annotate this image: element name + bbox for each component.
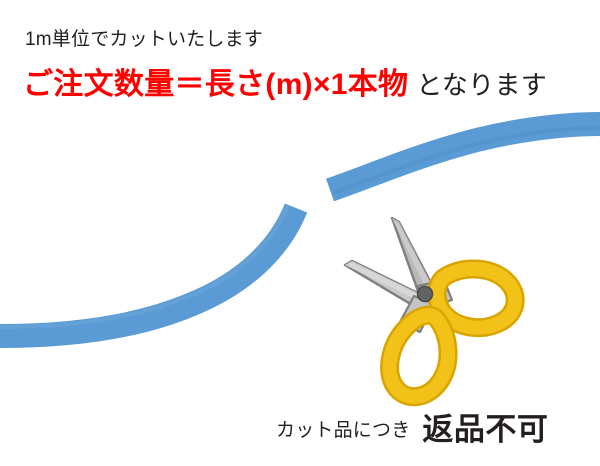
return-policy-prefix-text: カット品につき	[276, 420, 410, 441]
unit-note-text: 1m単位でカットいたします	[25, 30, 263, 49]
order-formula-tail-text: となります	[416, 70, 547, 100]
return-policy-line: カット品につき返品不可	[276, 414, 548, 445]
return-policy-emphasis-text: 返品不可	[422, 412, 548, 447]
order-formula-red-text: ご注文数量＝長さ(m)×1本物	[23, 68, 408, 101]
text-layer: 1m単位でカットいたします ご注文数量＝長さ(m)×1本物となります カット品に…	[0, 0, 600, 466]
order-formula-line: ご注文数量＝長さ(m)×1本物となります	[23, 70, 547, 100]
cut-service-notice-graphic: 1m単位でカットいたします ご注文数量＝長さ(m)×1本物となります カット品に…	[0, 0, 600, 466]
